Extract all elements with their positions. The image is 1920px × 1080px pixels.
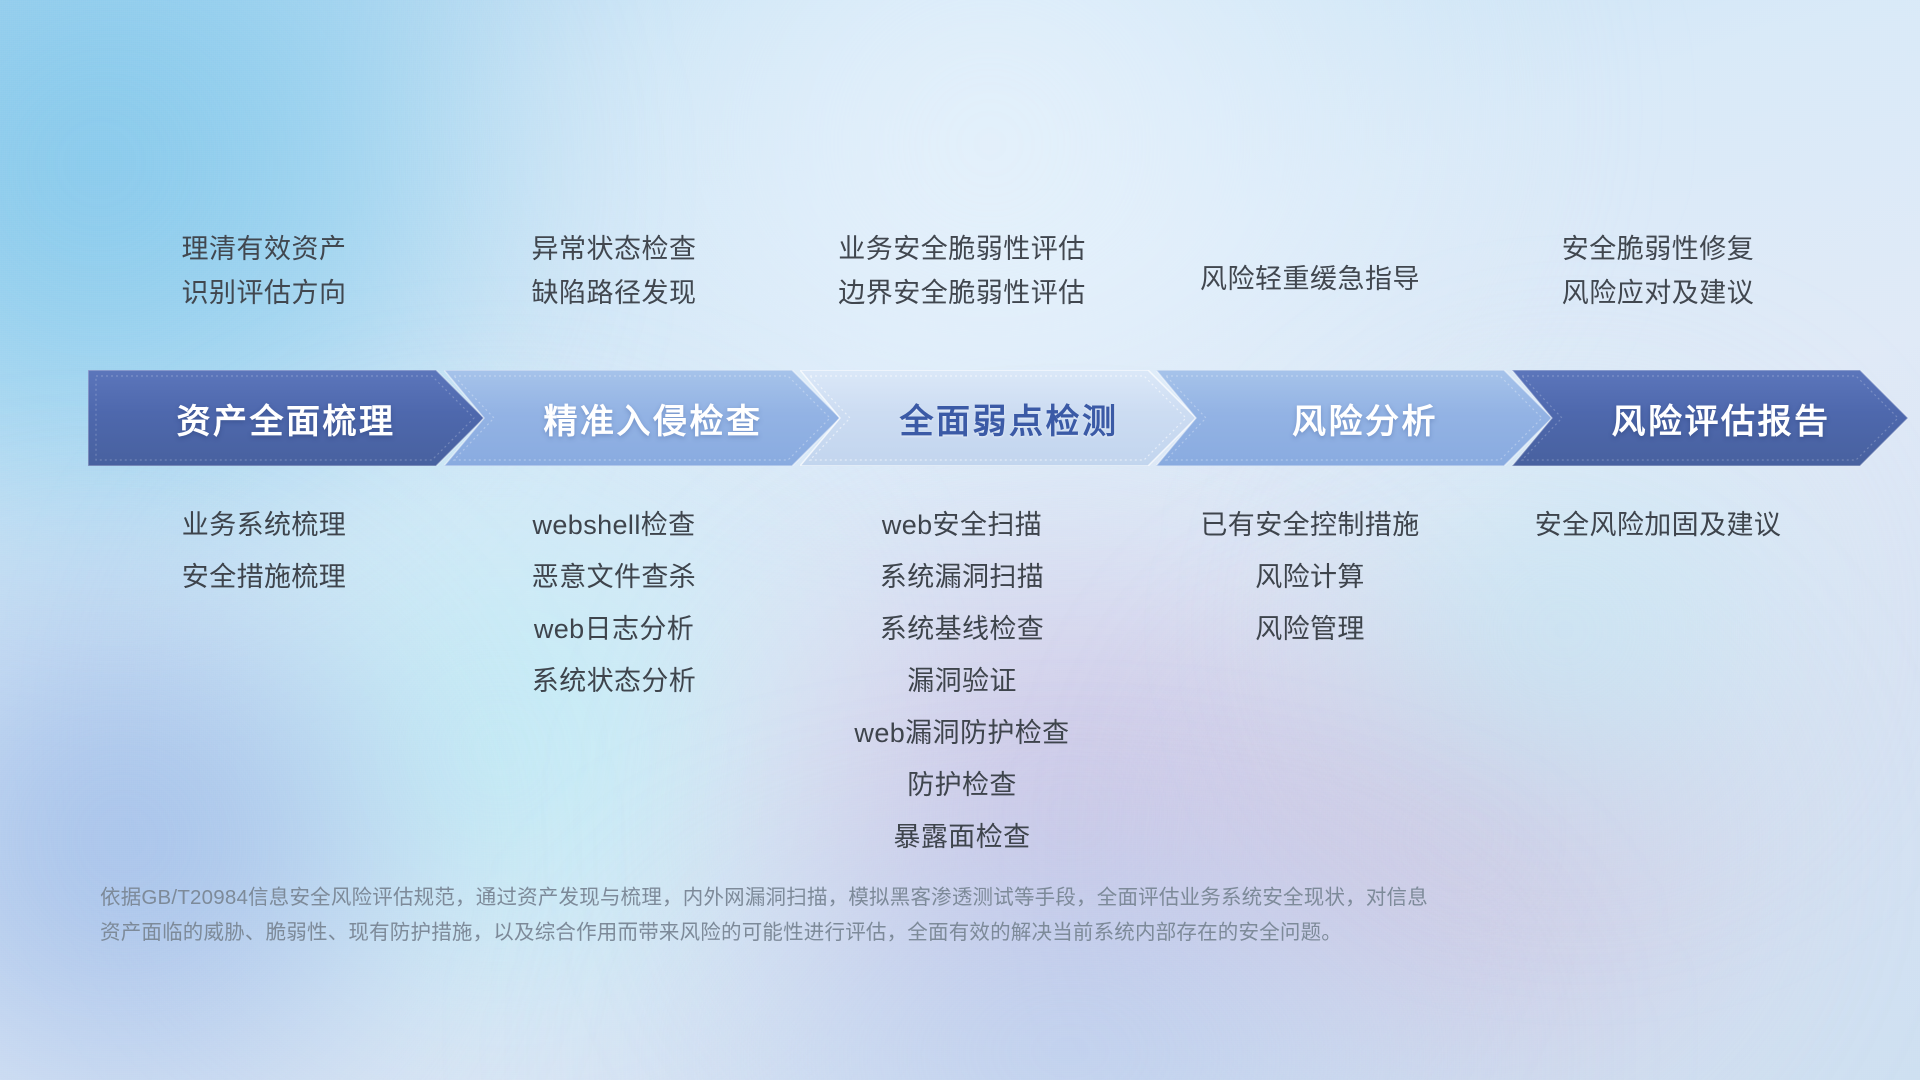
top-outcome-line: 缺陷路径发现 bbox=[440, 272, 788, 316]
bottom-activities-weakness-detection: web安全扫描 系统漏洞扫描 系统基线检查 漏洞验证 web漏洞防护检查 防护检… bbox=[788, 500, 1136, 864]
top-outcome-line: 业务安全脆弱性评估 bbox=[788, 228, 1136, 272]
activity-item: 系统漏洞扫描 bbox=[788, 552, 1136, 604]
process-step-asset-review[interactable]: 资产全面梳理 bbox=[88, 370, 484, 466]
process-step-weakness-detection[interactable]: 全面弱点检测 bbox=[800, 370, 1196, 466]
top-outcome-line: 理清有效资产 bbox=[88, 228, 440, 272]
top-outcome-line: 风险轻重缓急指导 bbox=[1136, 258, 1484, 302]
top-outcomes-asset-review: 理清有效资产 识别评估方向 bbox=[88, 228, 440, 315]
activity-item: 恶意文件查杀 bbox=[440, 552, 788, 604]
top-outcomes-risk-report: 安全脆弱性修复 风险应对及建议 bbox=[1484, 228, 1832, 315]
activity-item: 暴露面检查 bbox=[788, 812, 1136, 864]
top-outcome-line: 边界安全脆弱性评估 bbox=[788, 272, 1136, 316]
activity-item: 业务系统梳理 bbox=[88, 500, 440, 552]
process-step-risk-analysis[interactable]: 风险分析 bbox=[1156, 370, 1552, 466]
bottom-activities-row: 业务系统梳理 安全措施梳理 webshell检查 恶意文件查杀 web日志分析 … bbox=[88, 500, 1832, 864]
activity-item: 漏洞验证 bbox=[788, 656, 1136, 708]
bottom-activities-intrusion-check: webshell检查 恶意文件查杀 web日志分析 系统状态分析 bbox=[440, 500, 788, 864]
top-outcome-line: 识别评估方向 bbox=[88, 272, 440, 316]
process-step-label: 风险评估报告 bbox=[1612, 394, 1831, 443]
top-outcome-line: 安全脆弱性修复 bbox=[1484, 228, 1832, 272]
top-outcomes-weakness-detection: 业务安全脆弱性评估 边界安全脆弱性评估 bbox=[788, 228, 1136, 315]
process-step-label: 风险分析 bbox=[1292, 394, 1438, 443]
process-arrow-band: 资产全面梳理 精准入侵检查 bbox=[88, 370, 1838, 466]
activity-item: web漏洞防护检查 bbox=[788, 708, 1136, 760]
top-outcomes-intrusion-check: 异常状态检查 缺陷路径发现 bbox=[440, 228, 788, 315]
activity-item: 系统状态分析 bbox=[440, 656, 788, 708]
activity-item: 安全措施梳理 bbox=[88, 552, 440, 604]
activity-item: 防护检查 bbox=[788, 760, 1136, 812]
activity-item: 已有安全控制措施 bbox=[1136, 500, 1484, 552]
activity-item: 风险管理 bbox=[1136, 604, 1484, 656]
activity-item: 系统基线检查 bbox=[788, 604, 1136, 656]
bottom-activities-asset-review: 业务系统梳理 安全措施梳理 bbox=[88, 500, 440, 864]
bottom-activities-risk-report: 安全风险加固及建议 bbox=[1484, 500, 1832, 864]
activity-item: 安全风险加固及建议 bbox=[1484, 500, 1832, 552]
top-outcome-line: 风险应对及建议 bbox=[1484, 272, 1832, 316]
process-step-label: 精准入侵检查 bbox=[544, 394, 763, 443]
top-outcomes-risk-analysis: 风险轻重缓急指导 bbox=[1136, 228, 1484, 315]
activity-item: web日志分析 bbox=[440, 604, 788, 656]
top-outcomes-row: 理清有效资产 识别评估方向 异常状态检查 缺陷路径发现 业务安全脆弱性评估 边界… bbox=[88, 228, 1832, 315]
process-step-label: 资产全面梳理 bbox=[177, 394, 396, 443]
bottom-activities-risk-analysis: 已有安全控制措施 风险计算 风险管理 bbox=[1136, 500, 1484, 864]
activity-item: webshell检查 bbox=[440, 500, 788, 552]
risk-assessment-process-diagram: 理清有效资产 识别评估方向 异常状态检查 缺陷路径发现 业务安全脆弱性评估 边界… bbox=[0, 0, 1920, 1080]
activity-item: 风险计算 bbox=[1136, 552, 1484, 604]
activity-item: web安全扫描 bbox=[788, 500, 1136, 552]
process-step-label: 全面弱点检测 bbox=[900, 394, 1119, 443]
process-step-intrusion-check[interactable]: 精准入侵检查 bbox=[444, 370, 840, 466]
top-outcome-line: 异常状态检查 bbox=[440, 228, 788, 272]
footer-line: 依据GB/T20984信息安全风险评估规范，通过资产发现与梳理，内外网漏洞扫描，… bbox=[100, 880, 1740, 915]
footer-line: 资产面临的威胁、脆弱性、现有防护措施，以及综合作用而带来风险的可能性进行评估，全… bbox=[100, 915, 1740, 950]
footer-description: 依据GB/T20984信息安全风险评估规范，通过资产发现与梳理，内外网漏洞扫描，… bbox=[100, 880, 1740, 951]
process-step-risk-report[interactable]: 风险评估报告 bbox=[1512, 370, 1908, 466]
